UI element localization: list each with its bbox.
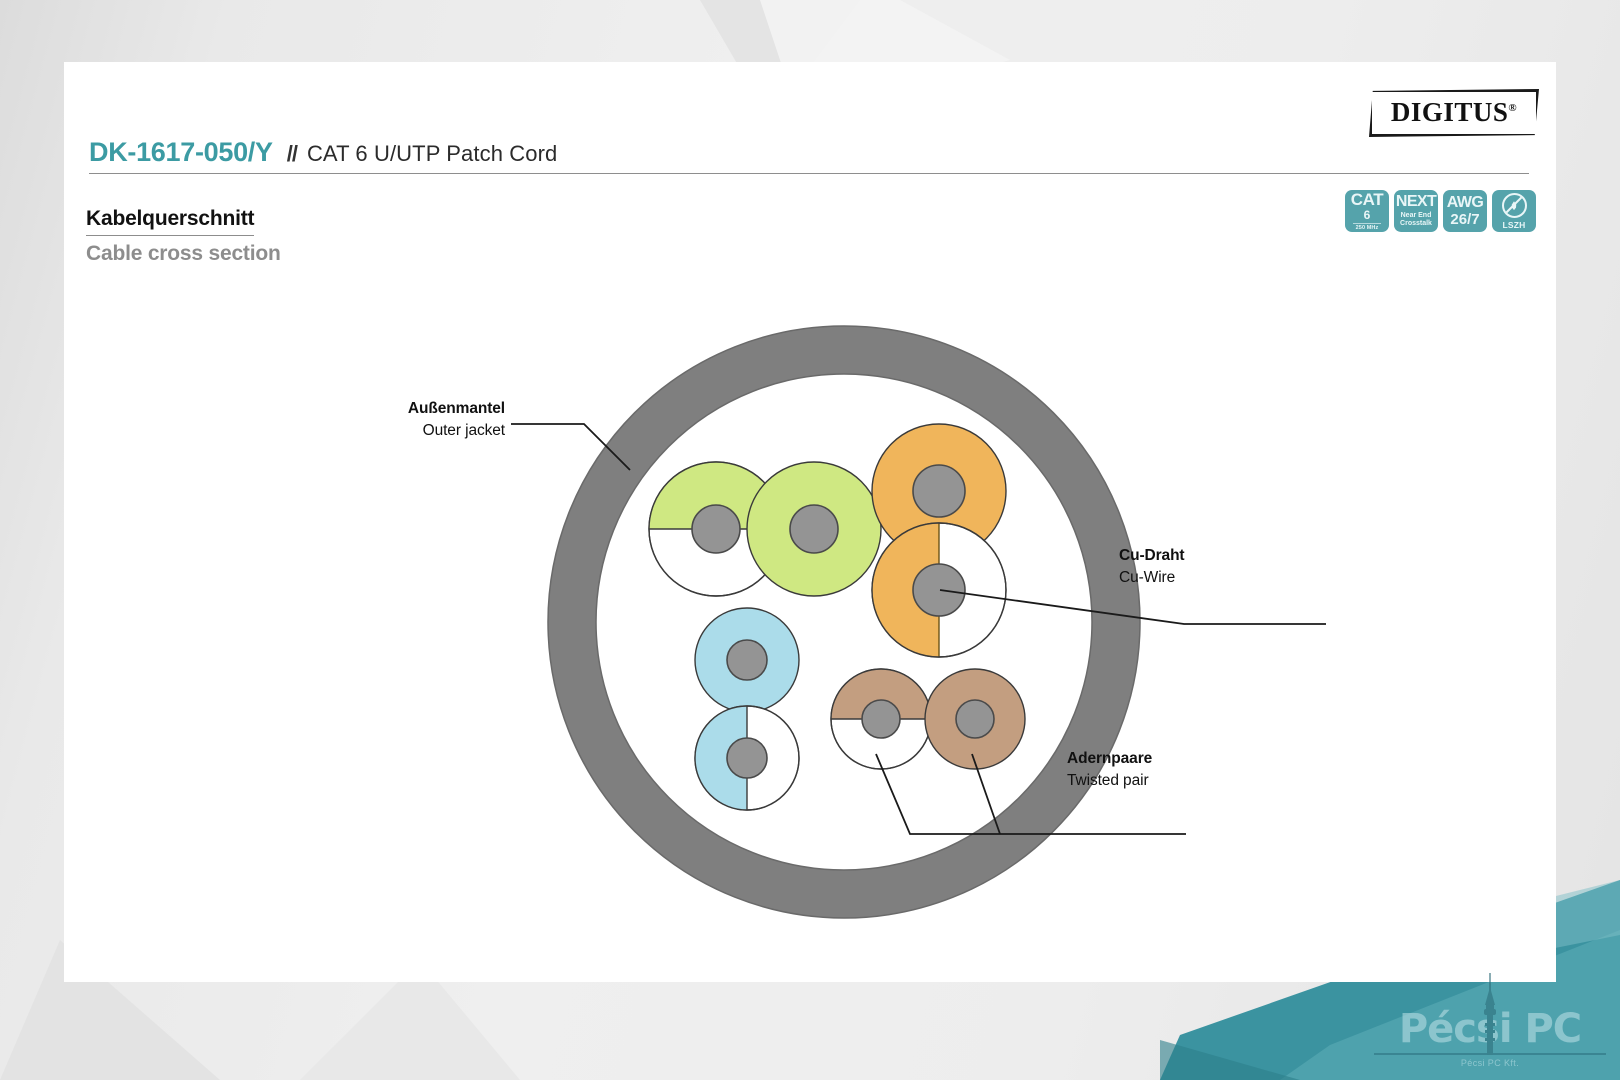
slide-sheet: DIGITUS® DK-1617-050/Y // CAT 6 U/UTP Pa… [64,62,1556,982]
callout-cu-wire-de: Cu-Draht [1119,545,1339,567]
callout-twisted-pair-de: Adernpaare [1067,748,1297,770]
callout-cu-wire: Cu-Draht Cu-Wire [1119,545,1339,590]
pecsipc-watermark: Pécsi PC Pécsi PC Kft. [1374,1003,1606,1068]
callout-outer-jacket-en: Outer jacket [245,420,505,442]
conductor [727,640,767,680]
conductor [692,505,740,553]
conductor [862,700,900,738]
blue-white-wire [695,706,799,810]
callout-outer-jacket: Außenmantel Outer jacket [245,398,505,443]
pecsipc-subtitle: Pécsi PC Kft. [1374,1058,1606,1068]
conductor [913,564,965,616]
brown-white-wire [831,669,931,769]
callout-outer-jacket-de: Außenmantel [245,398,505,420]
callout-cu-wire-en: Cu-Wire [1119,567,1339,589]
conductor [913,465,965,517]
cable-cross-section-diagram [64,62,1556,982]
callout-twisted-pair: Adernpaare Twisted pair [1067,748,1297,793]
green-solid-wire [747,462,881,596]
brown-solid-wire [925,669,1025,769]
tv-tower-icon [1477,973,1503,1055]
conductor [790,505,838,553]
conductor [727,738,767,778]
callout-twisted-pair-en: Twisted pair [1067,770,1297,792]
blue-solid-wire [695,608,799,712]
outer-jacket-ring [548,326,1140,918]
conductor [956,700,994,738]
orange-white-wire [872,523,1006,657]
